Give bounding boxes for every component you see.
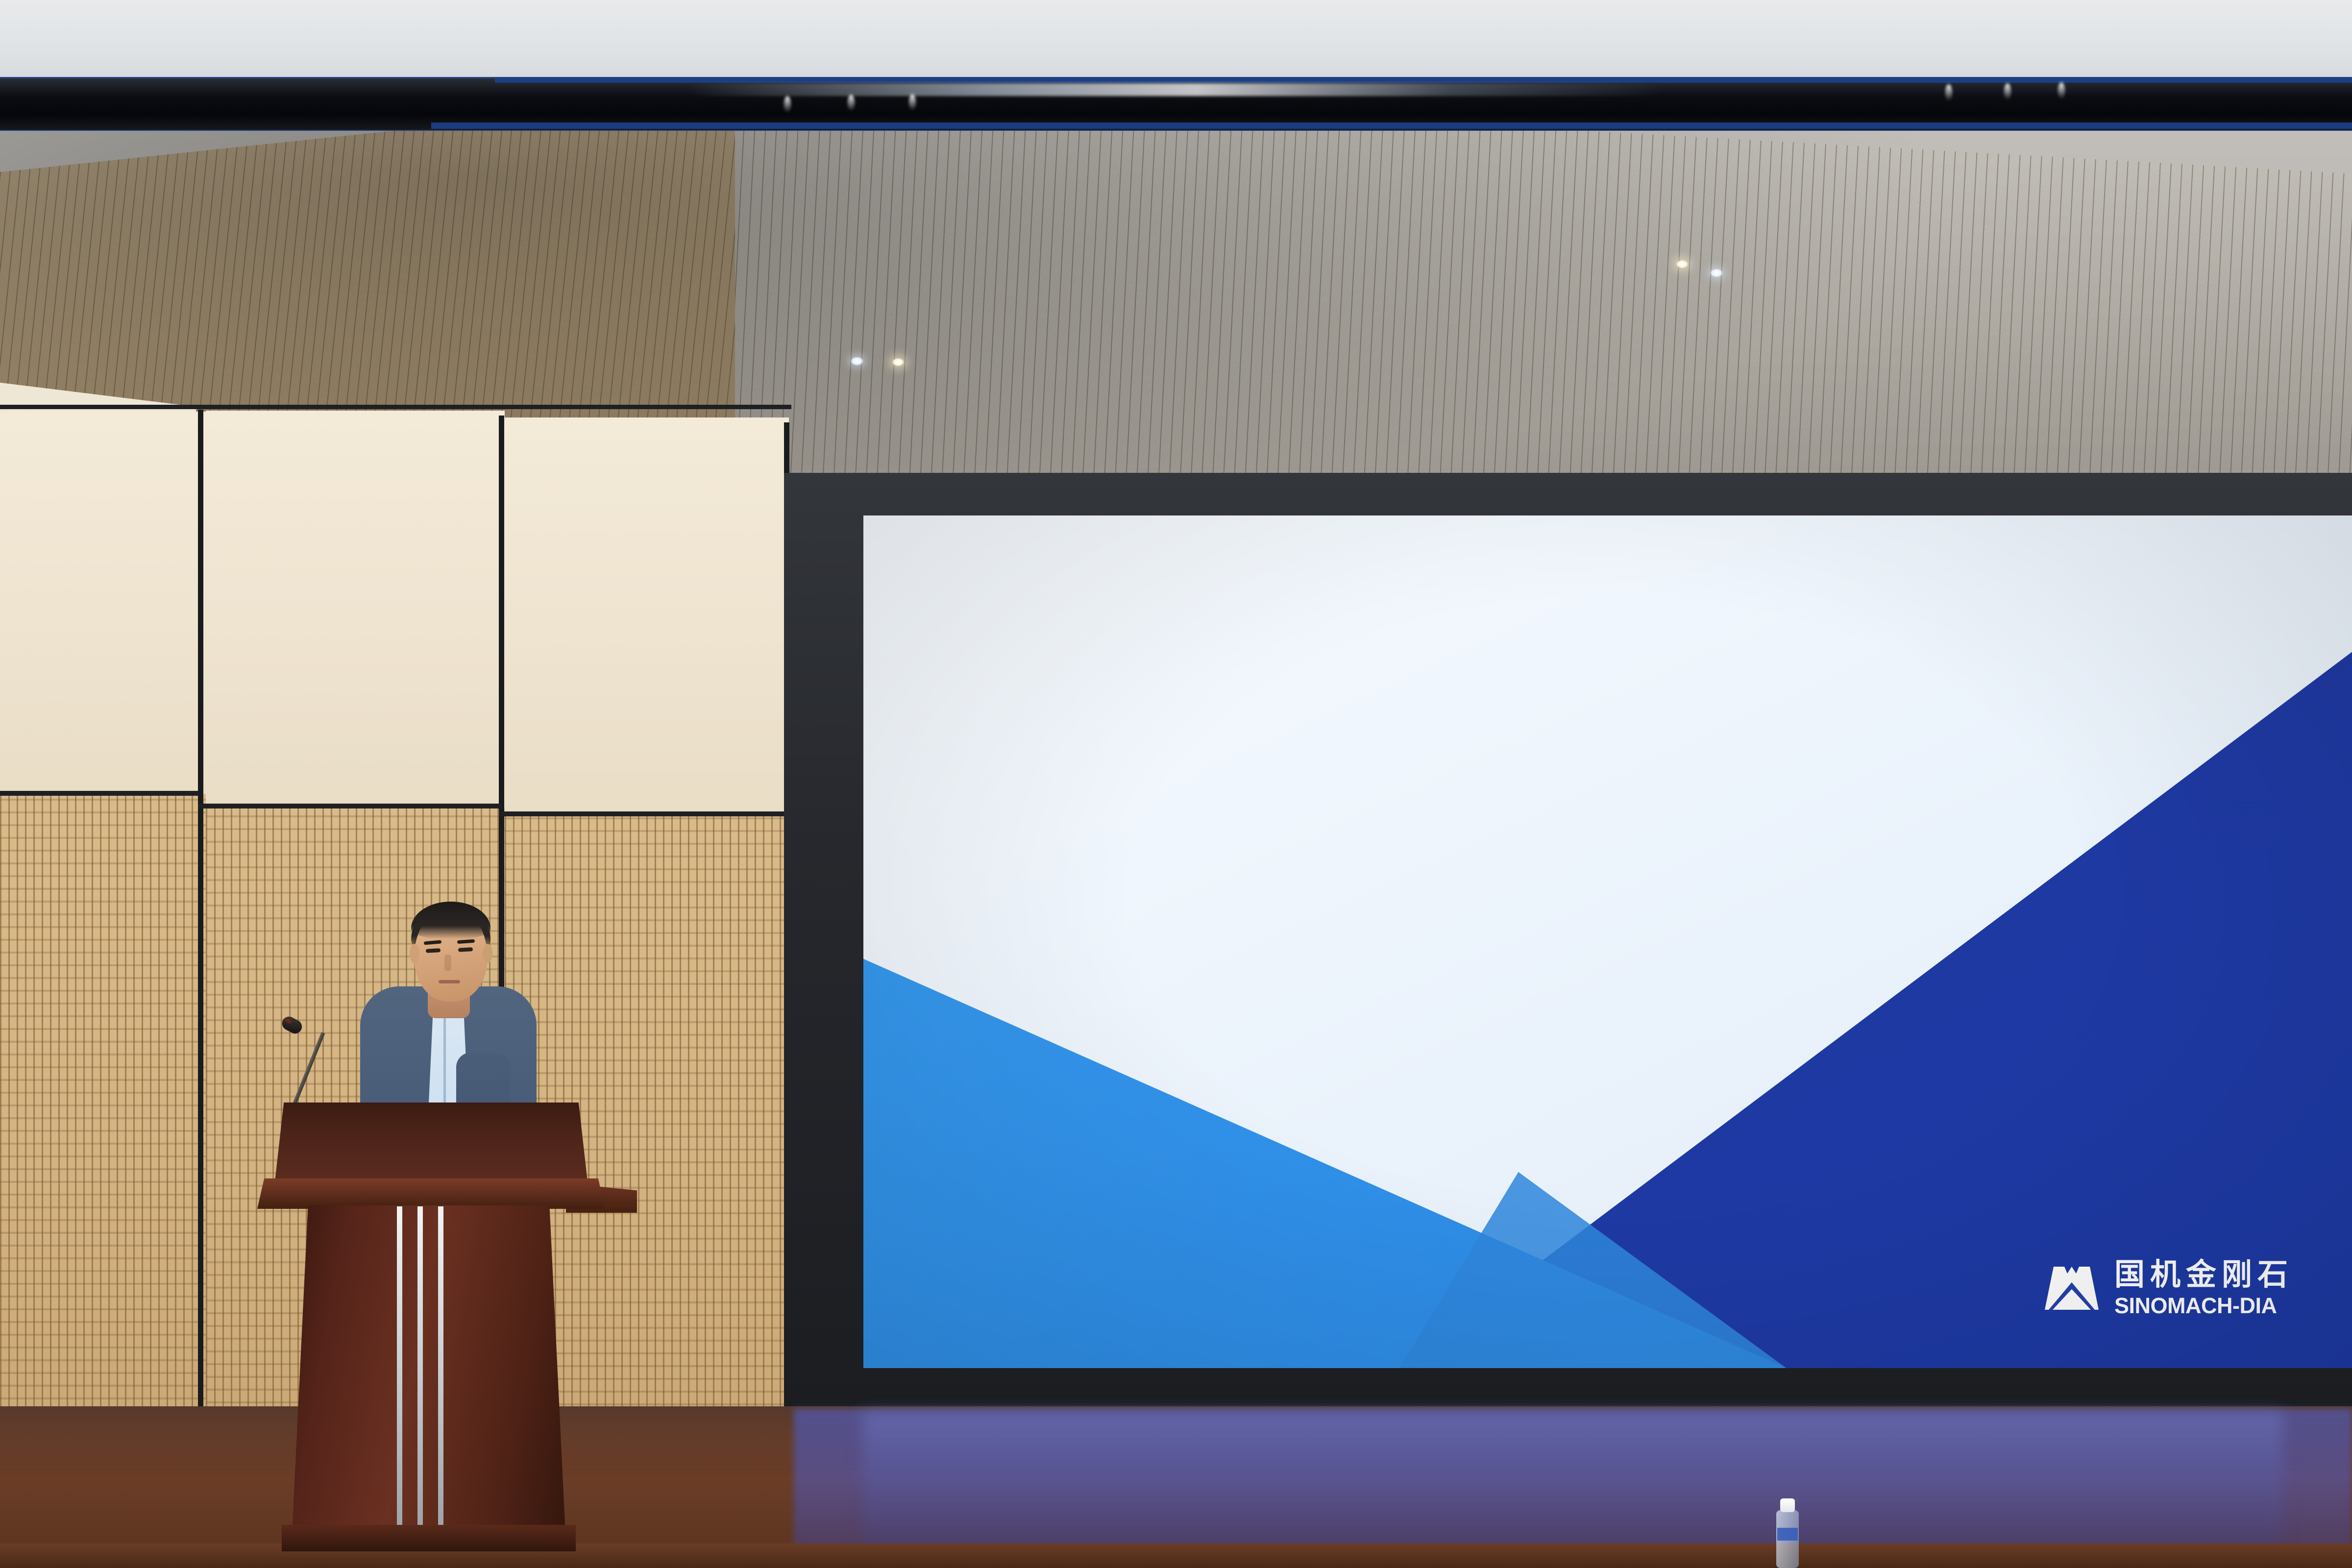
- wall-seam: [499, 811, 791, 816]
- podium-stripe: [417, 1206, 423, 1539]
- ceiling-downlight-icon: [1710, 269, 1723, 277]
- beam-spotlight-icon: [784, 96, 791, 113]
- slide-title: 2025年营销中心工作总结 及2026年工作计划: [863, 640, 2352, 817]
- slide-logo-company-en: SINOMACH-DIA: [2114, 1295, 2293, 1317]
- beam-spotlight-icon: [1945, 84, 1952, 101]
- beam-spotlight-icon: [848, 95, 855, 111]
- wall-lower-acoustic-panel: [0, 794, 206, 1450]
- wall-upper-panel: [505, 417, 789, 814]
- beam-gloss-reflection: [686, 83, 1666, 96]
- ceiling-downlight-icon: [1676, 260, 1689, 269]
- wall-upper-panel: [206, 411, 505, 808]
- bottle-cap: [1780, 1498, 1795, 1512]
- ceiling-downlight-icon: [851, 357, 863, 366]
- mountain-m-logo-icon: [2045, 1262, 2102, 1315]
- beam-spotlight-icon: [909, 94, 916, 111]
- beam-spotlight-icon: [2004, 83, 2011, 100]
- presentation-room-photo: 2025年营销中心工作总结 及2026年工作计划 国机金刚石 SINOMACH-…: [0, 0, 2352, 1568]
- speaker-ear: [483, 944, 492, 963]
- wall-seam: [0, 791, 198, 796]
- slide-title-line-1: 2025年营销中心工作总结: [863, 640, 2352, 729]
- slide-logo: 国机金刚石 SINOMACH-DIA: [2045, 1260, 2293, 1317]
- wall-upper-panel: [0, 412, 206, 794]
- slide-logo-company-cn: 国机金刚石: [2114, 1260, 2293, 1290]
- ceiling-downlight-icon: [892, 358, 905, 367]
- wall-corner-top: [0, 405, 791, 409]
- podium-base: [282, 1525, 576, 1551]
- beam-trim-top: [495, 77, 2352, 83]
- speaker-hair-front: [411, 902, 490, 939]
- podium-body: [292, 1205, 566, 1543]
- podium-lip: [257, 1178, 605, 1209]
- speaker-eye: [458, 947, 473, 952]
- beam-spotlight-icon: [2058, 82, 2065, 99]
- ceiling-plain-surface: [0, 0, 2352, 86]
- beam-trim-bottom: [431, 122, 2352, 129]
- speaker-ear: [410, 944, 419, 963]
- podium-reading-surface: [274, 1102, 588, 1186]
- slide-title-line-2: 及2026年工作计划: [863, 729, 2352, 818]
- speaker-mouth: [439, 980, 460, 983]
- speaker-nose: [444, 955, 451, 971]
- podium-stripe: [397, 1206, 402, 1539]
- speaker-eye: [426, 948, 441, 953]
- slide-logo-text: 国机金刚石 SINOMACH-DIA: [2114, 1260, 2293, 1317]
- wall-seam: [198, 804, 502, 808]
- bottle-label: [1777, 1528, 1798, 1541]
- podium-stripe: [438, 1206, 443, 1539]
- presentation-screen: 2025年营销中心工作总结 及2026年工作计划 国机金刚石 SINOMACH-…: [863, 515, 2352, 1368]
- floor-water-bottle: [1776, 1510, 1799, 1568]
- wall-seam: [198, 410, 203, 1456]
